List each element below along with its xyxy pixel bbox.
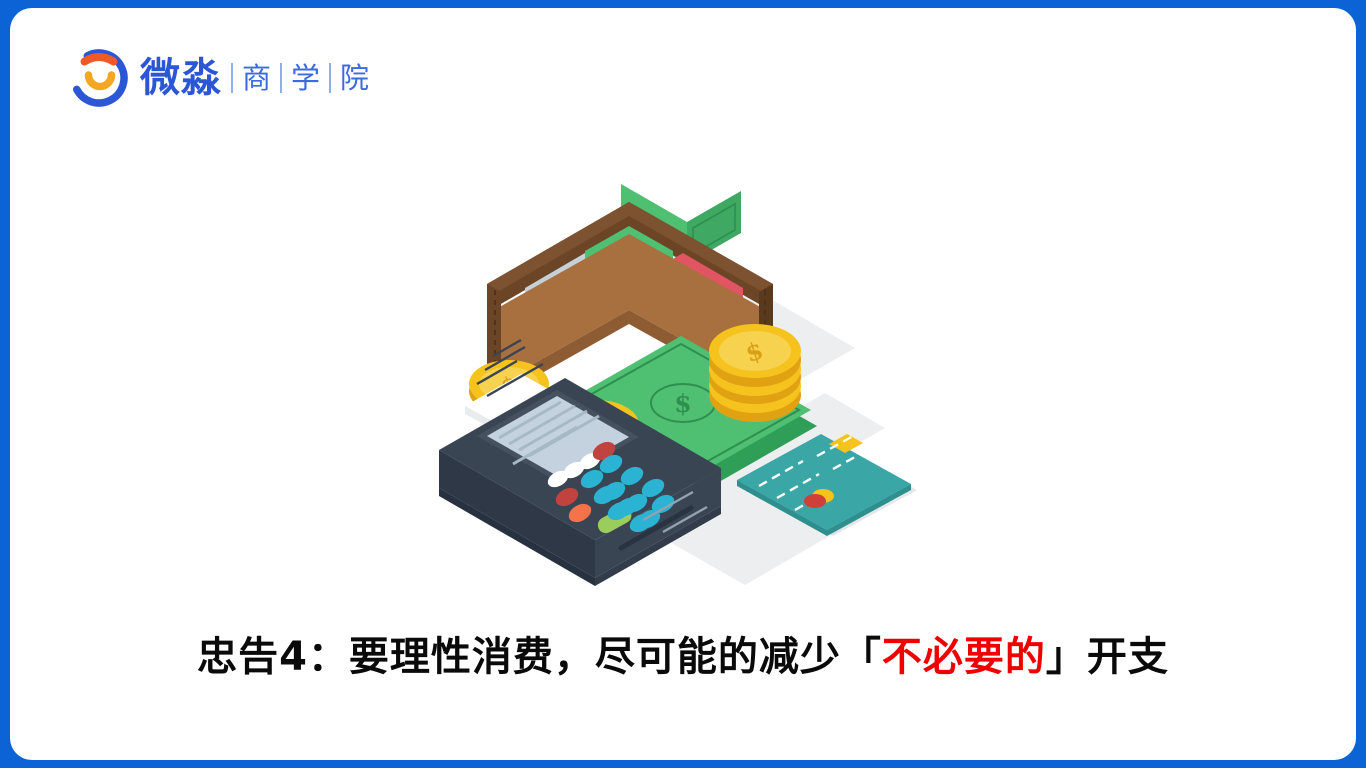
brand-logo[interactable]: 微淼 商 学 院 <box>68 46 369 110</box>
brand-sub-char-3: 院 <box>340 64 369 93</box>
caption-prefix: 忠告4：要理性消费，尽可能的减少 <box>197 634 841 680</box>
smile-circle-logo-icon <box>68 47 130 109</box>
brand-wordmark: 微淼 商 学 院 <box>140 58 369 98</box>
svg-text:$: $ <box>674 389 691 418</box>
brand-divider-3 <box>329 63 331 93</box>
brand-divider-1 <box>231 63 233 93</box>
slide-card: 微淼 商 学 院 <box>10 8 1356 760</box>
brand-sub-char-1: 商 <box>242 64 271 93</box>
coin-stack: $ <box>709 324 801 422</box>
slide-frame: 微淼 商 学 院 <box>0 0 1366 768</box>
caption-open-bracket: 「 <box>841 634 882 680</box>
caption-text: 忠告4：要理性消费，尽可能的减少「不必要的」开支 <box>10 624 1356 682</box>
caption-highlight: 不必要的 <box>882 634 1046 680</box>
caption-close-bracket: 」 <box>1046 634 1087 680</box>
pos-terminal-wallet-money-illustration: $ $ <box>425 138 955 608</box>
brand-sub-char-2: 学 <box>291 64 320 93</box>
brand-divider-2 <box>280 63 282 93</box>
caption-suffix: 开支 <box>1087 634 1169 680</box>
brand-name: 微淼 <box>140 58 222 98</box>
